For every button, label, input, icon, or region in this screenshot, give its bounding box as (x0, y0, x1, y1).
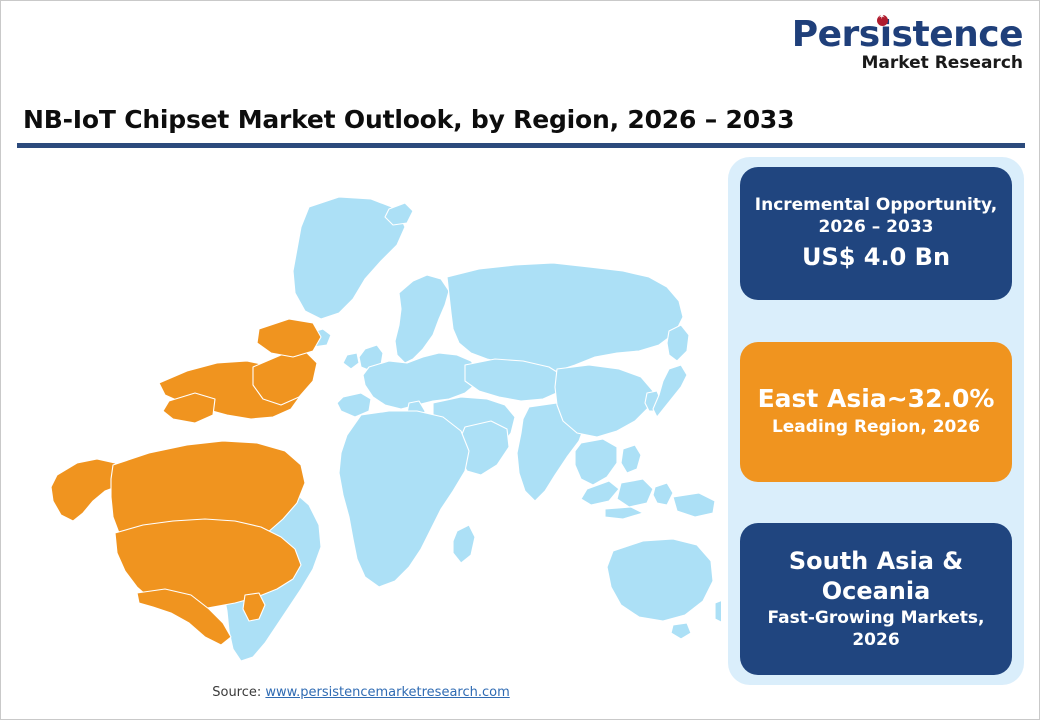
map-region-africa (339, 411, 469, 587)
world-map (9, 153, 721, 673)
incremental-opportunity-card: Incremental Opportunity, 2026 – 2033 US$… (740, 167, 1012, 300)
source-prefix: Source: (212, 685, 265, 700)
fast-growing-market-value-line2: Oceania (822, 576, 931, 606)
map-region-russia (447, 263, 683, 371)
incremental-opportunity-label-line2: 2026 – 2033 (819, 217, 934, 239)
map-region-southeast-asia (575, 439, 617, 485)
map-region-new-guinea (673, 493, 715, 517)
map-region-sumatra (581, 481, 619, 505)
persistence-market-research-logo: Persistence Market Research (791, 17, 1023, 73)
map-region-australia (607, 539, 713, 621)
world-map-svg (9, 153, 721, 673)
map-region-new-zealand (715, 599, 721, 623)
infographic-page: Persistence Market Research NB-IoT Chips… (0, 0, 1040, 720)
page-title: NB-IoT Chipset Market Outlook, by Region… (23, 105, 794, 134)
map-region-borneo (617, 479, 653, 507)
map-region-ellesmere (257, 319, 321, 357)
title-divider (17, 143, 1025, 148)
map-region-baffin-island (253, 351, 317, 405)
map-region-madagascar (453, 525, 475, 563)
map-region-tasmania (671, 623, 691, 639)
stats-panel: Incremental Opportunity, 2026 – 2033 US$… (728, 157, 1024, 685)
map-region-ireland (343, 353, 359, 369)
map-region-kamchatka (667, 325, 689, 361)
incremental-opportunity-label-line1: Incremental Opportunity, (755, 195, 997, 217)
source-url-link[interactable]: www.persistencemarketresearch.com (265, 685, 509, 700)
leading-region-value: East Asia~32.0% (758, 384, 995, 415)
map-region-scandinavia (395, 275, 449, 363)
map-region-east-asia (555, 365, 653, 437)
incremental-opportunity-value: US$ 4.0 Bn (802, 242, 950, 272)
fast-growing-market-label-line2: 2026 (852, 630, 899, 652)
map-region-philippines (621, 445, 641, 473)
fast-growing-market-value-line1: South Asia & (789, 546, 963, 576)
map-region-java (605, 507, 643, 519)
leading-region-card: East Asia~32.0% Leading Region, 2026 (740, 342, 1012, 482)
source-line: Source: www.persistencemarketresearch.co… (1, 685, 721, 700)
map-region-iberia (337, 393, 371, 417)
fast-growing-market-label-line1: Fast-Growing Markets, (768, 608, 985, 630)
logo-wordmark: Persistence (792, 17, 1023, 53)
logo-tagline: Market Research (791, 54, 1023, 73)
leading-region-label: Leading Region, 2026 (772, 417, 980, 439)
red-star-dot-icon (877, 15, 888, 26)
map-region-sulawesi (653, 483, 673, 505)
map-region-japan (653, 365, 687, 417)
fast-growing-market-card: South Asia & Oceania Fast-Growing Market… (740, 523, 1012, 675)
